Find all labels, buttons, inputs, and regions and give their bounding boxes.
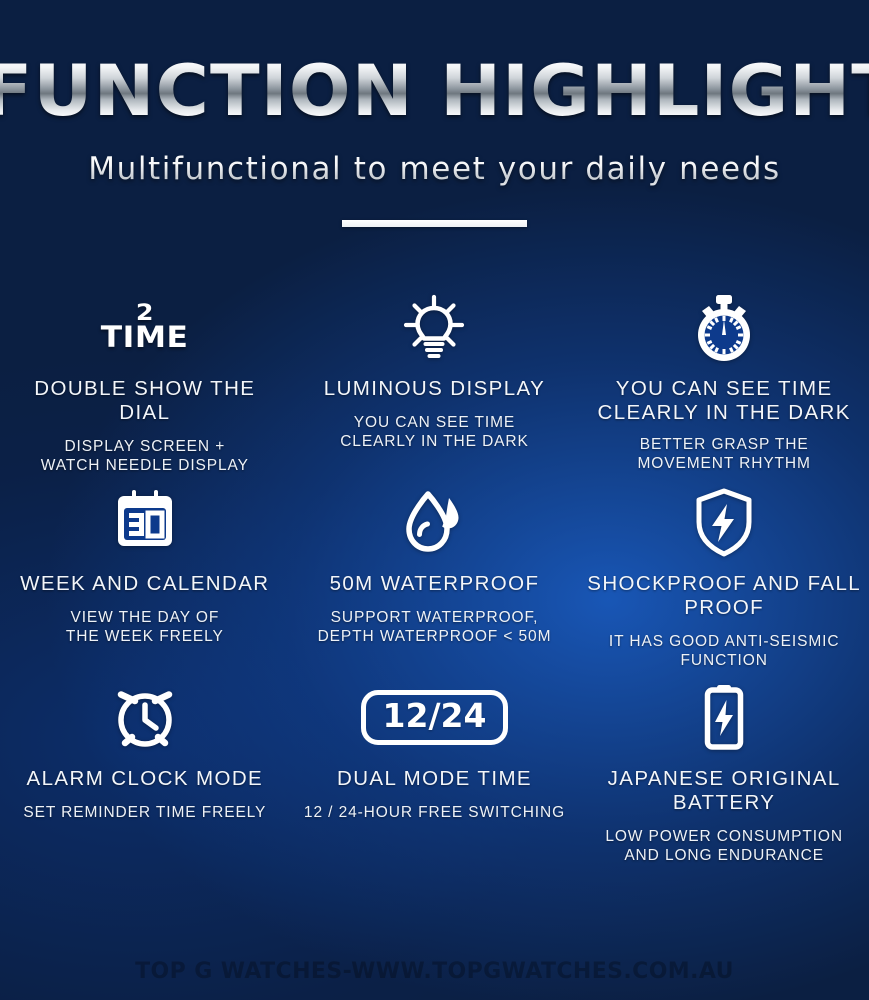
feature-card-waterproof: 50M WATERPROOF SUPPORT WATERPROOF, DEPTH…	[290, 486, 580, 681]
feature-subtitle: 12 / 24-HOUR FREE SWITCHING	[304, 804, 565, 823]
feature-card-alarm-clock: ALARM CLOCK MODE SET REMINDER TIME FREEL…	[0, 681, 290, 876]
feature-subtitle: LOW POWER CONSUMPTION AND LONG ENDURANCE	[605, 828, 843, 866]
feature-title: LUMINOUS DISPLAY	[324, 377, 545, 401]
feature-subtitle: DISPLAY SCREEN + WATCH NEEDLE DISPLAY	[41, 438, 249, 476]
dual-mode-label: 12/24	[361, 690, 509, 746]
feature-title: JAPANESE ORIGINAL BATTERY	[585, 767, 863, 815]
page-subtitle: Multifunctional to meet your daily needs	[0, 151, 869, 187]
watermark-text: TOP G WATCHES-WWW.TOPGWATCHES.COM.AU	[0, 959, 869, 984]
feature-card-dual-mode-time: 12/24 DUAL MODE TIME 12 / 24-HOUR FREE S…	[290, 681, 580, 876]
alarm-clock-icon	[108, 681, 182, 755]
feature-card-shockproof: SHOCKPROOF AND FALL PROOF IT HAS GOOD AN…	[579, 486, 869, 681]
feature-subtitle: VIEW THE DAY OF THE WEEK FREELY	[66, 609, 224, 647]
shield-bolt-icon	[687, 486, 761, 560]
feature-title: WEEK AND CALENDAR	[20, 572, 269, 596]
feature-card-battery: JAPANESE ORIGINAL BATTERY LOW POWER CONS…	[579, 681, 869, 876]
feature-title: YOU CAN SEE TIME CLEARLY IN THE DARK	[598, 377, 851, 425]
feature-subtitle: SUPPORT WATERPROOF, DEPTH WATERPROOF < 5…	[318, 609, 552, 647]
feature-title: 50M WATERPROOF	[330, 572, 540, 596]
feature-card-double-dial: 2 TIME DOUBLE SHOW THE DIAL DISPLAY SCRE…	[0, 291, 290, 486]
promo-banner: FUNCTION HIGHLIGHTS Multifunctional to m…	[0, 0, 869, 1000]
lightbulb-icon	[397, 291, 471, 365]
feature-title: DOUBLE SHOW THE DIAL	[6, 377, 284, 425]
calendar-icon	[108, 486, 182, 560]
feature-subtitle: BETTER GRASP THE MOVEMENT RHYTHM	[637, 436, 810, 474]
feature-title: DUAL MODE TIME	[337, 767, 532, 791]
page-title: FUNCTION HIGHLIGHTS	[0, 58, 869, 125]
battery-bolt-icon	[687, 681, 761, 755]
stopwatch-icon	[687, 291, 761, 365]
feature-title: ALARM CLOCK MODE	[27, 767, 264, 791]
feature-card-luminous-display: LUMINOUS DISPLAY YOU CAN SEE TIME CLEARL…	[290, 291, 580, 486]
dual-time-text-icon: 2 TIME	[104, 291, 185, 365]
feature-card-see-time-dark: YOU CAN SEE TIME CLEARLY IN THE DARK BET…	[579, 291, 869, 486]
header: FUNCTION HIGHLIGHTS Multifunctional to m…	[0, 0, 869, 227]
dual-time-word: TIME	[101, 324, 189, 351]
feature-subtitle: IT HAS GOOD ANTI-SEISMIC FUNCTION	[609, 633, 840, 671]
feature-subtitle: YOU CAN SEE TIME CLEARLY IN THE DARK	[340, 414, 529, 452]
feature-title: SHOCKPROOF AND FALL PROOF	[585, 572, 863, 620]
title-divider	[342, 220, 527, 227]
feature-grid: 2 TIME DOUBLE SHOW THE DIAL DISPLAY SCRE…	[0, 291, 869, 876]
dual-mode-box-icon: 12/24	[361, 681, 509, 755]
water-drop-icon	[397, 486, 471, 560]
feature-subtitle: SET REMINDER TIME FREELY	[23, 804, 266, 823]
feature-card-week-calendar: WEEK AND CALENDAR VIEW THE DAY OF THE WE…	[0, 486, 290, 681]
